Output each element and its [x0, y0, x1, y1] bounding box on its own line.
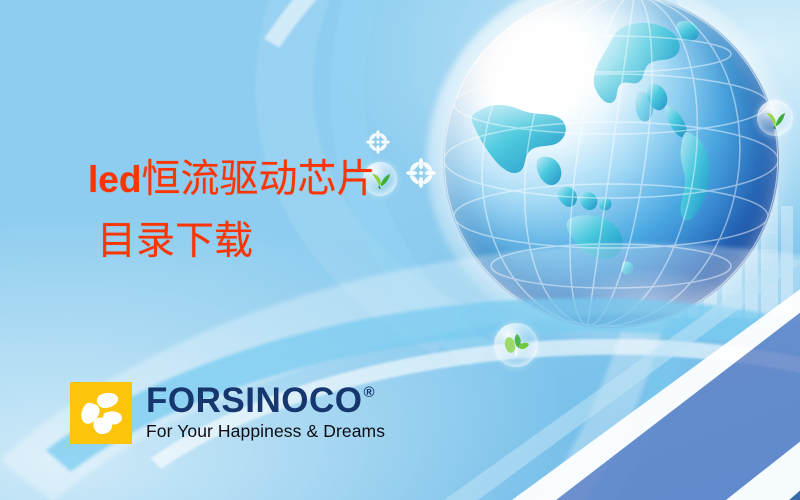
headline: led恒流驱动芯片 目录下载: [88, 160, 508, 261]
logo-wordmark-text: FORSINOCO: [146, 383, 362, 418]
green-leaf-icon: [757, 100, 793, 136]
starburst-flower-icon: [366, 130, 390, 154]
logo-wordmark: FORSINOCO ®: [146, 383, 385, 418]
headline-latin: led: [88, 159, 141, 200]
company-logo[interactable]: FORSINOCO ® For Your Happiness & Dreams: [70, 382, 385, 444]
logo-text-block: FORSINOCO ® For Your Happiness & Dreams: [146, 382, 385, 442]
logo-tagline: For Your Happiness & Dreams: [146, 421, 385, 442]
four-petal-flower-icon: [70, 382, 132, 444]
bubble-leaf-icon: [757, 100, 793, 136]
headline-cjk: 恒流驱动芯片: [141, 158, 375, 201]
headline-line-2: 目录下载: [88, 222, 508, 261]
banner-canvas: led恒流驱动芯片 目录下载 FORSINOCO ® For Your Happ…: [0, 0, 800, 500]
diagonal-band-decoration: [220, 260, 800, 500]
headline-line-1: led恒流驱动芯片: [88, 160, 508, 199]
registered-trademark-icon: ®: [363, 385, 375, 400]
